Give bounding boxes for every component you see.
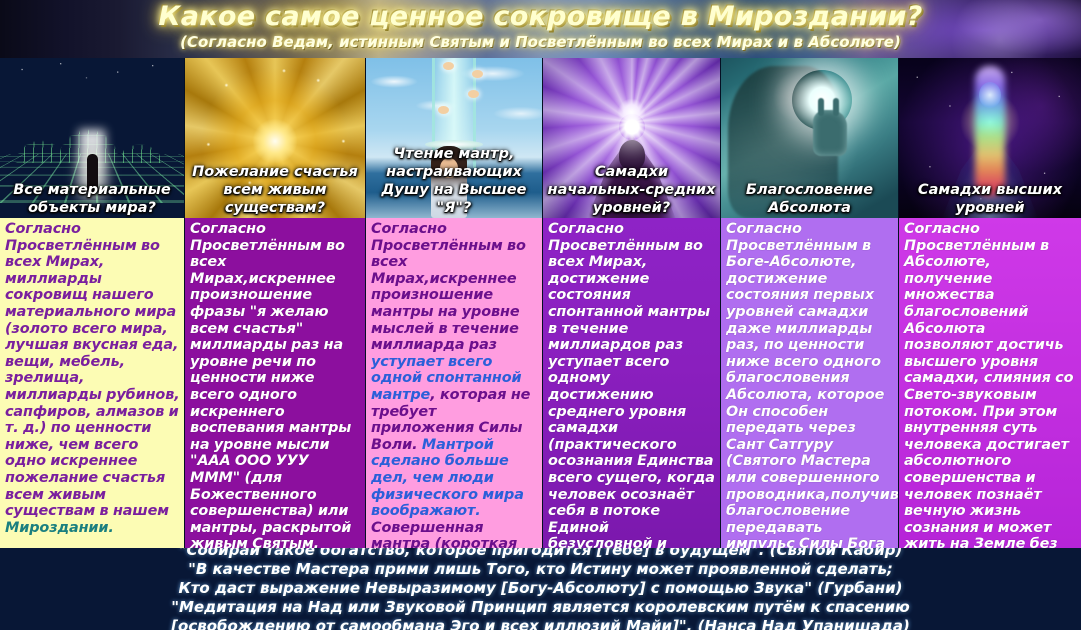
cosmic-chakra-figure-image: Самадхи высших уровней bbox=[899, 58, 1081, 218]
poster-header: Какое самое ценное сокровище в Мироздани… bbox=[0, 0, 1081, 58]
page-title: Какое самое ценное сокровище в Мироздани… bbox=[0, 1, 1081, 32]
column-samadhi-highest: Самадхи высших уровней Согласно Просветл… bbox=[899, 58, 1081, 548]
body-text-run: Согласно Просветлённым в Боге-Абсолюте, … bbox=[726, 221, 898, 548]
footer-quote-line: "Медитация на Над или Звуковой Принцип я… bbox=[171, 598, 910, 617]
column-wish-happiness: Пожелание счастья всем живым существам? … bbox=[185, 58, 366, 548]
crown-light-decor bbox=[619, 114, 645, 140]
column-material-objects: Все материальные объекты мира? Согласно … bbox=[0, 58, 185, 548]
raised-hand-decor bbox=[813, 110, 847, 156]
footer-quote-line: "В качестве Мастера прими лишь Того, кто… bbox=[188, 560, 893, 579]
column-samadhi-initial: Самадхи начальных-средних уровней? Согла… bbox=[543, 58, 721, 548]
footer-quote-line: "Собирай такое богатство, которое пригод… bbox=[179, 548, 903, 560]
column-caption: Чтение мантр, настраивающих Душу на Высш… bbox=[366, 145, 542, 218]
body-text-run: Мироздании. bbox=[5, 520, 114, 536]
teal-blessing-hands-image: Благословение Абсолюта bbox=[721, 58, 898, 218]
column-body-text: Согласно Просветлённым в Боге-Абсолюте, … bbox=[721, 218, 898, 548]
column-body-text: Согласно Просветлённым во всех Мирах,иск… bbox=[185, 218, 365, 548]
cosmic-wireframe-landscape-image: Все материальные объекты мира? bbox=[0, 58, 184, 218]
column-mantra-reading: Чтение мантр, настраивающих Душу на Высш… bbox=[366, 58, 543, 548]
column-blessing-absolute: Благословение Абсолюта Согласно Просветл… bbox=[721, 58, 899, 548]
column-body-text: Согласно Просветлённым в Абсолюте, получ… bbox=[899, 218, 1081, 548]
light-pillar-sky-woman-image: Чтение мантр, настраивающих Душу на Высш… bbox=[366, 58, 542, 218]
angel-decor bbox=[468, 90, 479, 98]
body-text-run: Согласно Просветлённым во всех Мирах,иск… bbox=[371, 221, 526, 353]
chakra-head-decor bbox=[979, 82, 1001, 108]
body-text-run: Согласно Просветлённым во всех Мирах, ми… bbox=[5, 221, 180, 519]
footer-quote-line: Кто даст выражение Невыразимому [Богу-Аб… bbox=[178, 579, 902, 598]
footer-quote-line: [освобождению от самообмана Эго и всех и… bbox=[171, 617, 910, 630]
violet-meditating-silhouette-image: Самадхи начальных-средних уровней? bbox=[543, 58, 720, 218]
poster-footer-quotes: "Собирай такое богатство, которое пригод… bbox=[0, 548, 1081, 630]
body-text-run: Совершенная мантра (короткая молитва) - … bbox=[371, 520, 530, 548]
column-caption: Самадхи начальных-средних уровней? bbox=[543, 163, 720, 218]
column-caption: Пожелание счастья всем живым существам? bbox=[185, 163, 365, 218]
column-caption: Благословение Абсолюта bbox=[721, 181, 898, 218]
golden-mandala-image: Пожелание счастья всем живым существам? bbox=[185, 58, 365, 218]
column-body-text: Согласно Просветлённым во всех Мирах, ми… bbox=[0, 218, 184, 548]
body-text-run: Согласно Просветлённым во всех Мирах, до… bbox=[548, 221, 715, 548]
column-caption: Все материальные объекты мира? bbox=[0, 181, 184, 218]
column-body-text: Согласно Просветлённым во всех Мирах, до… bbox=[543, 218, 720, 548]
page-subtitle: (Согласно Ведам, истинным Святым и Посве… bbox=[0, 33, 1081, 51]
angel-decor bbox=[472, 70, 483, 78]
poster-root: Какое самое ценное сокровище в Мироздани… bbox=[0, 0, 1081, 630]
column-caption: Самадхи высших уровней bbox=[899, 181, 1081, 218]
body-text-run: Согласно Просветлённым в Абсолюте, получ… bbox=[904, 221, 1073, 548]
columns-container: Все материальные объекты мира? Согласно … bbox=[0, 58, 1081, 548]
column-body-text: Согласно Просветлённым во всех Мирах,иск… bbox=[366, 218, 542, 548]
body-text-run: Согласно Просветлённым во всех Мирах,иск… bbox=[190, 221, 360, 548]
